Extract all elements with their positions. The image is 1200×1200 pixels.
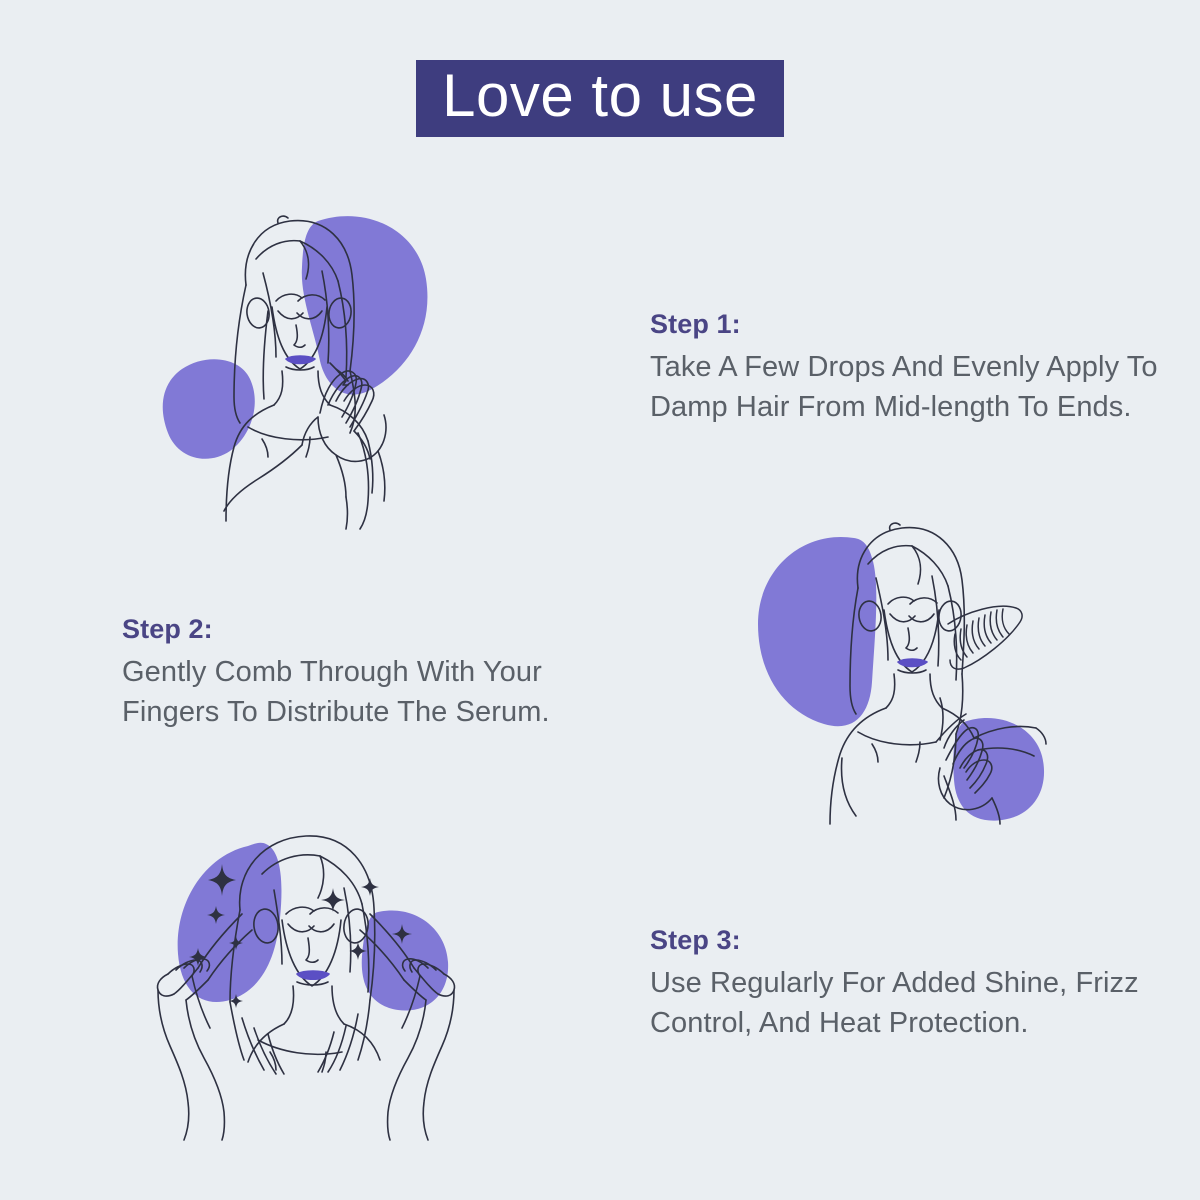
lips (286, 356, 315, 364)
background-blobs (758, 537, 1044, 821)
step-1-text: Step 1: Take A Few Drops And Evenly Appl… (600, 196, 1200, 536)
step-3-text: Step 3: Use Regularly For Added Shine, F… (600, 812, 1200, 1152)
step-2-label: Step 2: (122, 610, 576, 649)
illustration-woman-with-shiny-sparkling-hair (0, 812, 600, 1152)
step-2-description: Gently Comb Through With Your Fingers To… (122, 652, 576, 732)
step-2-text: Step 2: Gently Comb Through With Your Fi… (0, 506, 600, 836)
step-1-label: Step 1: (650, 305, 1176, 344)
page-title: Love to use (442, 64, 758, 127)
step-row-1: Step 1: Take A Few Drops And Evenly Appl… (0, 196, 1200, 536)
shiny-hair-figure (130, 822, 470, 1142)
combing-figure (750, 516, 1050, 826)
serum-application-figure (150, 201, 450, 531)
comb-icon (948, 606, 1022, 669)
step-3-description: Use Regularly For Added Shine, Frizz Con… (650, 963, 1170, 1043)
title-banner: Love to use (416, 60, 784, 137)
step-3-label: Step 3: (650, 921, 1176, 960)
lips (297, 971, 329, 979)
step-1-description: Take A Few Drops And Evenly Apply To Dam… (650, 347, 1170, 427)
illustration-woman-applying-serum-to-hair (0, 196, 600, 536)
header-banner-area: Love to use (0, 0, 1200, 190)
step-row-2: Step 2: Gently Comb Through With Your Fi… (0, 506, 1200, 836)
background-blobs (163, 216, 428, 459)
step-row-3: Step 3: Use Regularly For Added Shine, F… (0, 812, 1200, 1152)
illustration-woman-combing-hair (600, 506, 1200, 836)
lips (898, 659, 927, 667)
flowing-hair-strands (230, 1000, 370, 1074)
